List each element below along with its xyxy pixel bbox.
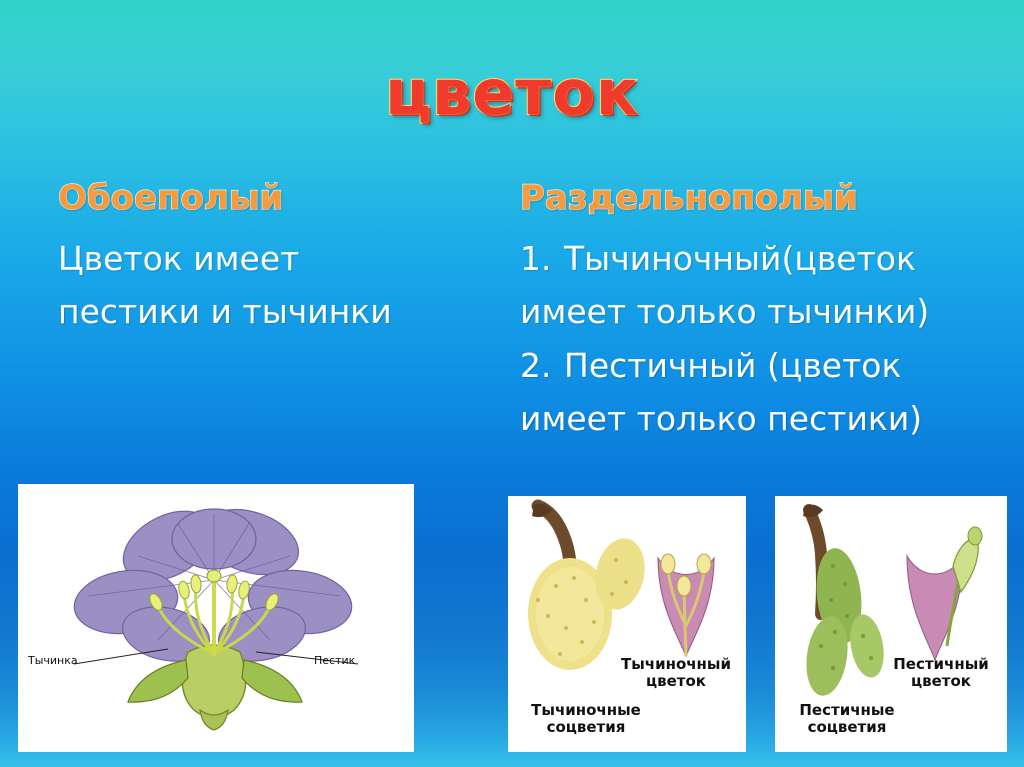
- list-item: 2.Пестичный (цветок имеет только пестики…: [520, 339, 1000, 446]
- left-column: Обоеполый Цветок имеет пестики и тычинки: [58, 178, 488, 339]
- page-title: цветок: [0, 56, 1024, 129]
- pistillate-flower-caption: Пестичный цветок: [879, 656, 1003, 691]
- pistillate-catkins-photo: Пестичный цветок Пестичные соцветия: [775, 496, 1007, 752]
- staminate-caption-line-2: цветок: [646, 672, 706, 690]
- slide: цветок Обоеполый Цветок имеет пестики и …: [0, 0, 1024, 767]
- list-item-marker: 2.: [520, 339, 564, 392]
- pistillate-caption-line-1: Пестичный: [893, 655, 989, 673]
- list-item-marker: 1.: [520, 232, 564, 285]
- staminate-flower-caption: Тычиночный цветок: [612, 656, 740, 691]
- right-column-list: 1.Тычиночный(цветок имеет только тычинки…: [520, 232, 1000, 446]
- staminate-inflorescence-caption: Тычиночные соцветия: [512, 702, 660, 737]
- staminate-catkins-photo: Тычиночный цветок Тычиночные соцветия: [508, 496, 746, 752]
- flower-diagram-svg: [18, 484, 414, 752]
- list-item-line-1: Пестичный (цветок: [564, 346, 901, 385]
- label-pistil: Пестик: [314, 654, 355, 667]
- list-item-line-2: имеет только пестики): [520, 399, 922, 438]
- list-item-line-1: Тычиночный(цветок: [564, 239, 916, 278]
- bisexual-flower-diagram: Тычинка Пестик: [18, 484, 414, 752]
- list-item-line-2: имеет только тычинки): [520, 292, 929, 331]
- staminate-sub-line-1: Тычиночные: [531, 701, 641, 719]
- pistillate-inflorescence-caption: Пестичные соцветия: [777, 702, 917, 737]
- left-column-heading: Обоеполый: [58, 178, 488, 218]
- staminate-sub-line-2: соцветия: [547, 718, 626, 736]
- right-column-heading: Раздельнополый: [520, 178, 1000, 218]
- right-column: Раздельнополый 1.Тычиночный(цветок имеет…: [520, 178, 1000, 446]
- list-item: 1.Тычиночный(цветок имеет только тычинки…: [520, 232, 1000, 339]
- left-column-text: Цветок имеет пестики и тычинки: [58, 232, 488, 339]
- left-text-line-2: пестики и тычинки: [58, 285, 488, 338]
- pistillate-sub-line-2: соцветия: [808, 718, 887, 736]
- left-text-line-1: Цветок имеет: [58, 232, 488, 285]
- label-stamen: Тычинка: [28, 654, 78, 667]
- pistillate-caption-line-2: цветок: [911, 672, 971, 690]
- staminate-caption-line-1: Тычиночный: [621, 655, 731, 673]
- pistillate-sub-line-1: Пестичные: [799, 701, 894, 719]
